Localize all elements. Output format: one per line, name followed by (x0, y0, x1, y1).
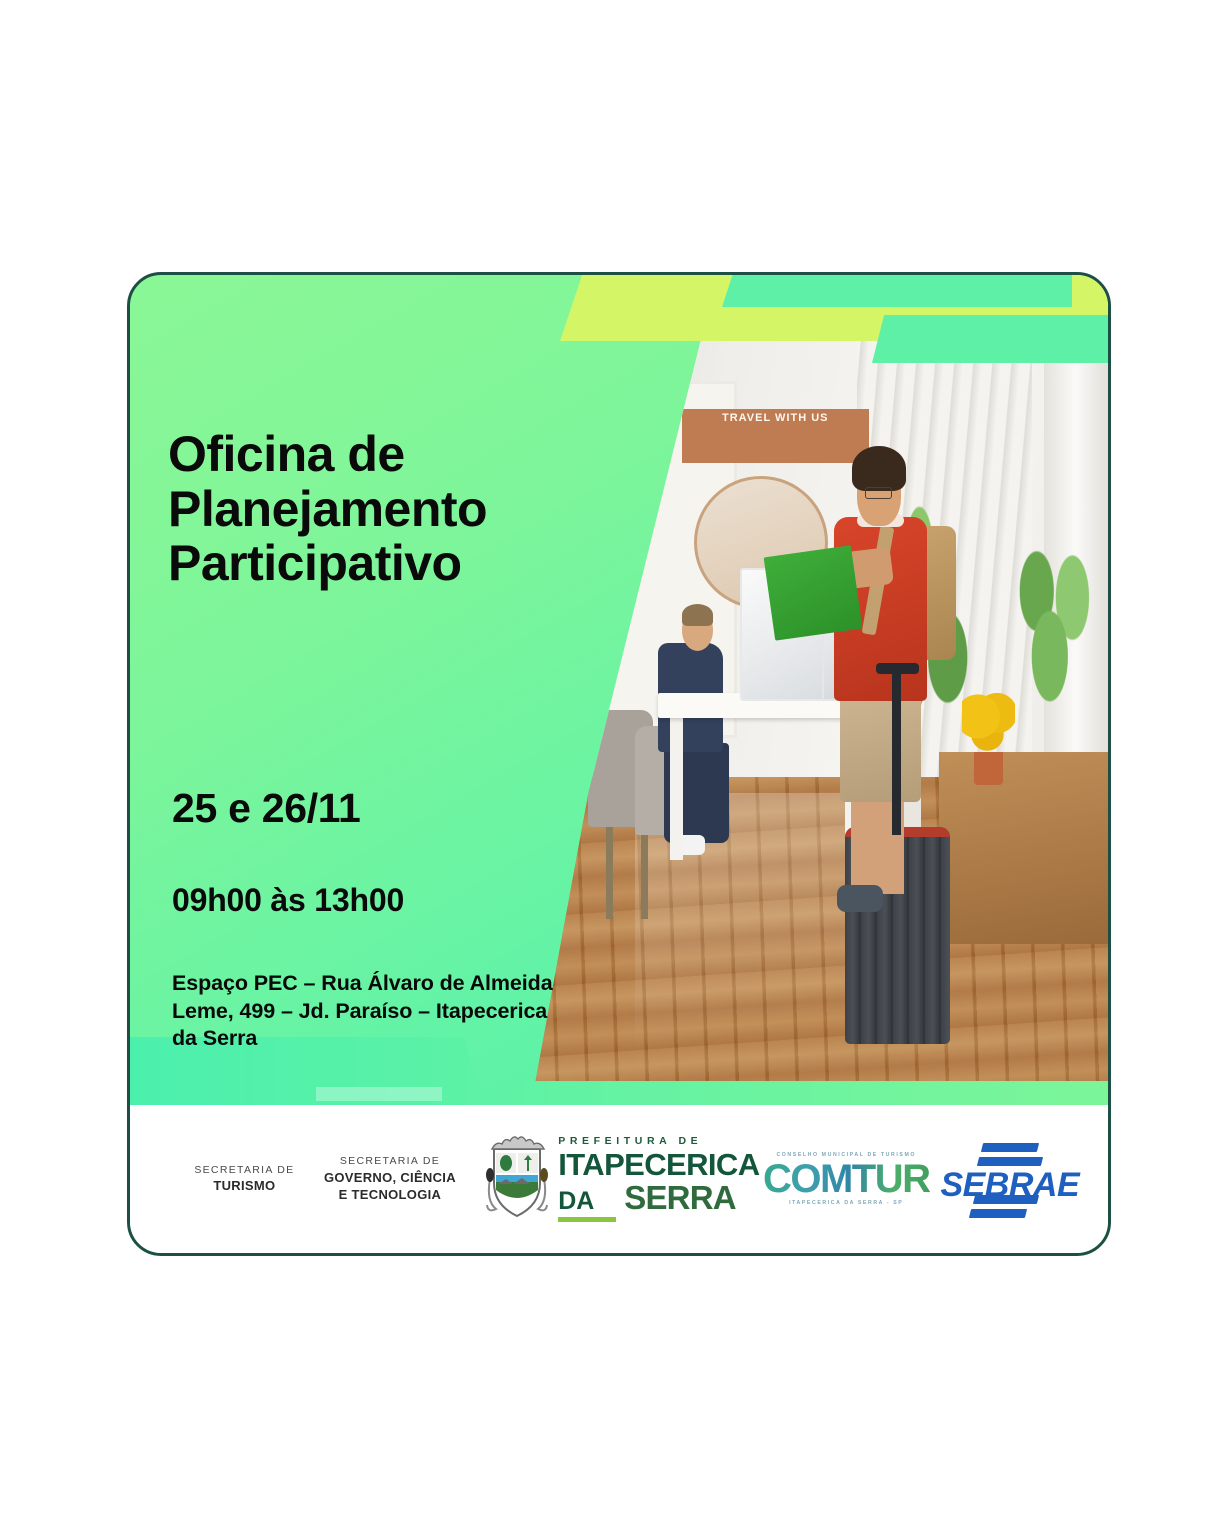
sebrae-bar (977, 1157, 1043, 1166)
logo-comtur: CONSELHO MUNICIPAL DE TURISMO COMTUR ITA… (763, 1152, 930, 1206)
event-photo: TRAVEL WITH US (530, 275, 1111, 1111)
prefeitura-kicker: PREFEITURA DE (558, 1136, 759, 1147)
sebrae-bar (969, 1209, 1027, 1218)
turismo-kicker: SECRETARIA DE (194, 1163, 294, 1177)
photo-traveler-shorts (840, 685, 922, 802)
comtur-wordmark: COMTUR (763, 1158, 930, 1200)
photo-traveler-glasses (865, 487, 892, 499)
photo-green-folder (764, 545, 862, 640)
photo-chair-leg (641, 827, 648, 919)
comtur-subtext: ITAPECERICA DA SERRA - SP (763, 1200, 930, 1206)
photo-suitcase-handle-bar (892, 668, 901, 835)
photo-wood-credenza (939, 752, 1111, 944)
coat-of-arms-icon (484, 1131, 550, 1227)
travel-with-us-poster-text: TRAVEL WITH US (682, 409, 869, 463)
logo-secretaria-governo: SECRETARIA DE GOVERNO, CIÊNCIA E TECNOLO… (315, 1154, 465, 1203)
photo-traveler-shoe (837, 885, 884, 912)
prefeitura-city: ITAPECERICA (558, 1149, 759, 1180)
poster-text-column: Oficina de Planejamento Participativo 25… (168, 275, 598, 1111)
governo-kicker: SECRETARIA DE (324, 1154, 456, 1168)
event-venue-address: Espaço PEC – Rua Álvaro de Almeida Leme,… (172, 970, 560, 1053)
prefeitura-underline (558, 1217, 616, 1222)
photo-desk-leg (670, 718, 683, 860)
event-dates: 25 e 26/11 (172, 785, 361, 832)
governo-name: GOVERNO, CIÊNCIA E TECNOLOGIA (324, 1169, 456, 1204)
logo-secretaria-turismo: SECRETARIA DE TURISMO (174, 1163, 315, 1195)
sebrae-bar (981, 1143, 1039, 1152)
photo-sunflowers (962, 693, 1015, 760)
sponsor-logo-bar: SECRETARIA DE TURISMO SECRETARIA DE GOVE… (130, 1105, 1111, 1253)
logo-sebrae: SEBRAE (930, 1133, 1080, 1225)
photo-suitcase-handle-grip (876, 663, 919, 674)
prefeitura-serra: SERRA (624, 1181, 736, 1214)
photo-seated-man-hair (682, 604, 714, 626)
poster-card: TRAVEL WITH US (127, 272, 1111, 1256)
photo-plant-right (1015, 526, 1103, 743)
prefeitura-da: DA (558, 1189, 616, 1214)
event-time: 09h00 às 13h00 (172, 882, 404, 919)
turismo-name: TURISMO (194, 1177, 294, 1195)
photo-traveler-hair (852, 446, 906, 491)
decorative-teal-band-top (722, 275, 1072, 307)
sebrae-wordmark: SEBRAE (930, 1166, 1090, 1205)
logo-prefeitura-itapecerica: PREFEITURA DE ITAPECERICA DA SERRA (481, 1131, 763, 1227)
photo-chair-leg (606, 827, 613, 919)
poster-title: Oficina de Planejamento Participativo (168, 427, 598, 591)
decorative-teal-band-right (872, 315, 1111, 363)
